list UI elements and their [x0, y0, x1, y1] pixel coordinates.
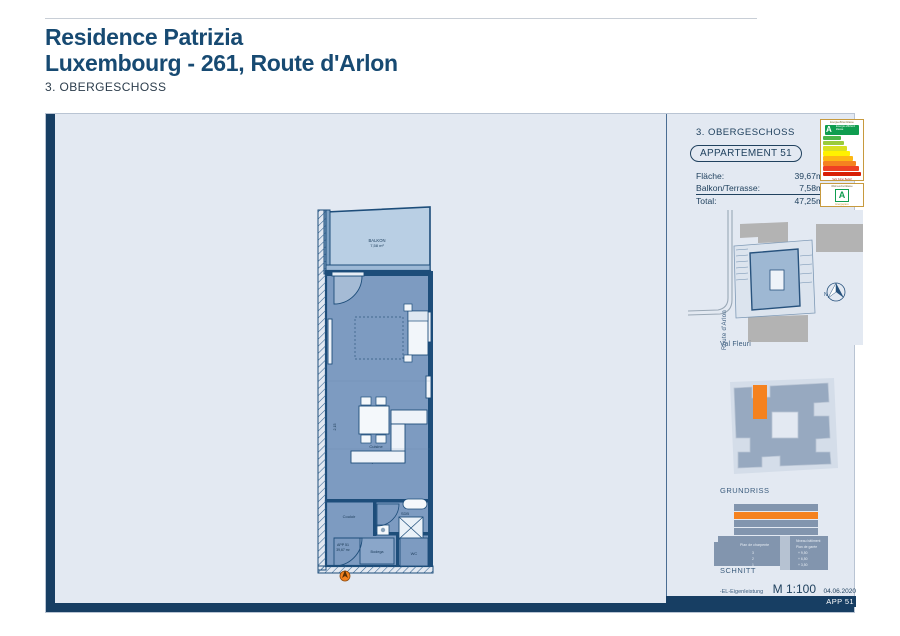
apartment-code-bar: APP 51: [666, 596, 856, 607]
page-title-line2: Luxembourg - 261, Route d'Arlon: [45, 50, 855, 76]
room-label-storage: Bodega: [370, 550, 384, 554]
compass-north-label: N: [824, 292, 828, 298]
header-rule: [45, 18, 757, 19]
document-header: Residence Patrizia Luxembourg - 261, Rou…: [45, 18, 855, 94]
area-table: Fläche: 39,67m² Balkon/Terrasse: 7,58m² …: [696, 170, 826, 207]
scale-label: M 1:100: [773, 582, 816, 596]
grundriss-label: GRUNDRISS: [720, 486, 770, 495]
apartment-code: APP 51: [826, 597, 854, 606]
page-title-line1: Residence Patrizia: [45, 25, 855, 50]
neighbour-building-ne: [816, 224, 863, 252]
date-label: 04.06.2020: [823, 588, 856, 595]
panel-divider: [666, 114, 667, 605]
schnitt-key-diagram: Plan de charpente Niveau bâtiment Plan d…: [688, 500, 863, 570]
area-label-total: Total:: [696, 195, 783, 208]
eigenleistung-note: -EL-Eigenleistung: [720, 589, 763, 595]
energy-badge-caption: Energieeffizienzklasse: [821, 120, 863, 124]
energy-rating-badge: Energieeffizienzklasse A Energie effizie…: [820, 119, 864, 181]
energy-bar-f: [823, 156, 853, 160]
wall-interior-2: [373, 502, 377, 536]
balcony-area-label: 7,58 m²: [370, 243, 384, 248]
energy-bar-h: [823, 166, 859, 170]
tub-fixture: [403, 499, 427, 509]
area-label-balkon: Balkon/Terrasse:: [696, 182, 783, 195]
room-label-bath: SDB: [401, 511, 410, 516]
neighbour-building-s: [748, 315, 808, 342]
window-west: [328, 319, 332, 364]
room-label-corridor: Couloir: [343, 514, 356, 519]
energy-bar-b: [823, 136, 841, 140]
section-right-caption: Niveau bâtiment: [796, 539, 821, 543]
section-highlight-floor: [734, 512, 818, 519]
energy-class-a-letter: A: [826, 125, 832, 135]
drawing-footer: -EL-Eigenleistung M 1:100 04.06.2020: [674, 580, 856, 596]
room-label-wc: WC: [411, 551, 418, 556]
energy-bar-i: [823, 172, 861, 176]
section-height-1: + 3,50: [798, 563, 808, 567]
balcony-area: BALKON 7,58 m²: [324, 207, 430, 274]
thermal-badge-caption: Wärmeschutzklasse: [821, 184, 863, 188]
unit-tag-area: 39,67 m²: [336, 548, 350, 552]
section-left-caption: Plan de charpente: [740, 543, 769, 547]
dimension-left: 2,15: [333, 424, 337, 431]
section-level-2: 2: [752, 557, 754, 561]
frame-left-bar: [46, 114, 55, 612]
thermal-class-letter: A: [835, 189, 849, 202]
energy-scale-low: Sehr hoher Bedarf: [821, 177, 863, 181]
energy-bar-d: [823, 146, 847, 150]
energy-bar-c: [823, 141, 844, 145]
table-row: Total: 47,25m²: [696, 195, 826, 208]
apartment-badge: APPARTEMENT 51: [690, 145, 802, 162]
key-highlight-unit: [753, 385, 767, 419]
energy-bar-scale: A Energie effizienz klasse: [823, 125, 861, 176]
energy-pass-caption: Energiepass: [821, 202, 863, 206]
info-floor-label: 3. OBERGESCHOSS: [696, 127, 795, 138]
drawing-frame: BALKON 7,58 m²: [45, 113, 855, 613]
site-street-valfleuri: Val Fleuri: [720, 341, 751, 348]
floorplan-document: Residence Patrizia Luxembourg - 261, Rou…: [0, 0, 900, 636]
energy-bar-e: [823, 151, 850, 155]
window-east-2: [426, 376, 431, 398]
section-right-sub: Plan de garée: [796, 545, 817, 549]
table-row: Balkon/Terrasse: 7,58m²: [696, 182, 826, 195]
thermal-rating-badge: Wärmeschutzklasse A Energiepass: [820, 183, 864, 207]
section-height-3: + 9,50: [798, 551, 808, 555]
info-panel: 3. OBERGESCHOSS APPARTEMENT 51 Fläche: 3…: [674, 114, 847, 605]
unit-tag-name: APP 51: [337, 543, 349, 547]
page-subtitle: 3. OBERGESCHOSS: [45, 80, 855, 94]
wall-interior-4: [396, 535, 399, 567]
energy-bar-g: [823, 161, 856, 165]
shower-fixture: [399, 517, 423, 539]
energy-class-a-text: Energie effizienz klasse: [836, 126, 861, 132]
bed-furniture: [404, 304, 428, 362]
apartment-floor-plan: BALKON 7,58 m²: [55, 114, 666, 605]
schnitt-label: SCHNITT: [720, 566, 756, 575]
table-row: Fläche: 39,67m²: [696, 170, 826, 182]
sink-fixture: [377, 525, 389, 535]
section-height-2: + 6,50: [798, 557, 808, 561]
area-label-flaeche: Fläche:: [696, 170, 783, 182]
room-label-kitchen: Cuisine: [369, 444, 383, 449]
site-plan: N Route d'Arlon: [688, 210, 863, 345]
grundriss-key-diagram: [688, 372, 863, 480]
section-level-3: 3: [752, 551, 754, 555]
